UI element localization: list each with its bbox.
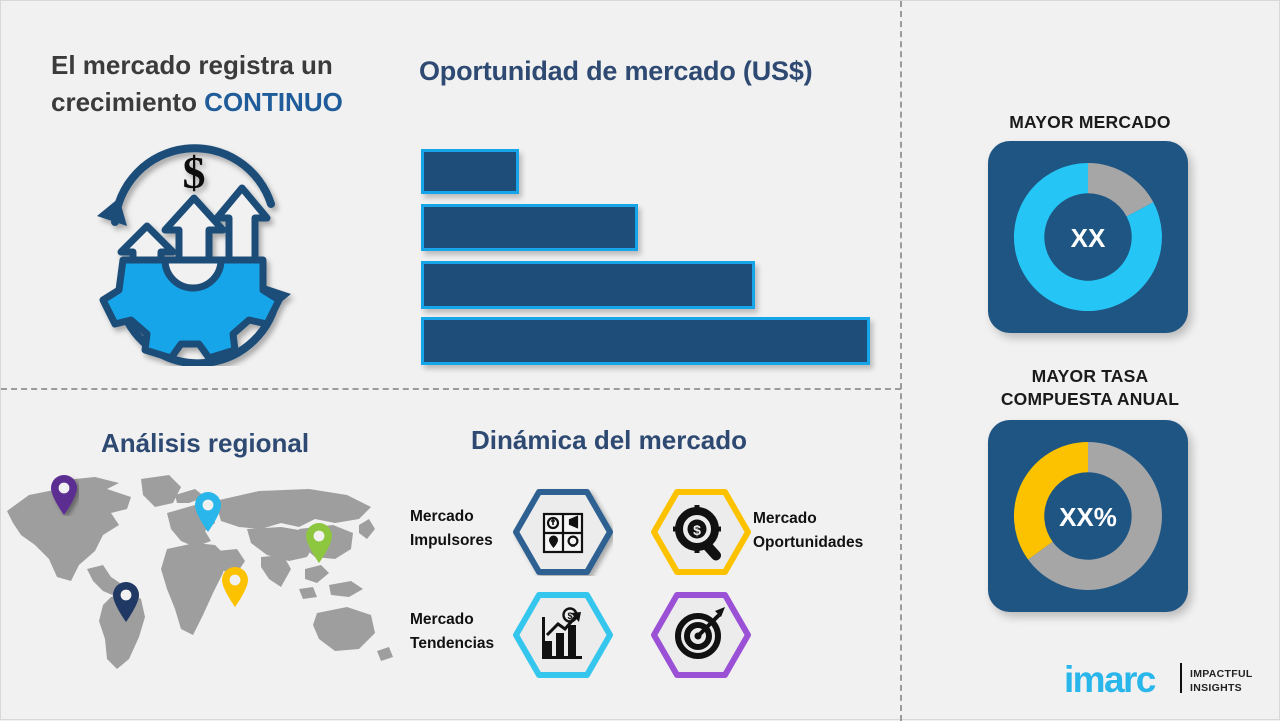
opportunity-bar-chart (421, 149, 876, 354)
kpi-center-value-mayor-mercado: XX (988, 223, 1188, 254)
kpi2-title-line1: MAYOR TASA (1032, 366, 1149, 386)
growth-cycle-gear-icon: $ (81, 144, 306, 366)
dyn-0-line2: Impulsores (410, 532, 493, 549)
headline-line-2-plain: crecimiento (51, 87, 204, 117)
map-pin-europe (193, 491, 223, 533)
bar-1 (421, 149, 519, 194)
map-pin-asia (304, 522, 334, 564)
dynamics-hex-impulsores[interactable] (513, 488, 613, 576)
bar-2 (421, 204, 638, 251)
opportunity-section-title: Oportunidad de mercado (US$) (419, 56, 812, 87)
bar-4 (421, 317, 870, 365)
imarc-logo: imarc IMPACTFUL INSIGHTS (1064, 661, 1260, 705)
dynamics-label-impulsores: Mercado Impulsores (410, 505, 493, 553)
map-pin-north-america (49, 474, 79, 516)
logo-wordmark: imarc (1064, 661, 1155, 698)
headline-accent-word: CONTINUO (204, 87, 343, 117)
logo-tagline-line2: INSIGHTS (1190, 682, 1242, 694)
svg-text:$: $ (183, 147, 206, 198)
svg-text:$: $ (567, 611, 572, 621)
dyn-2-line1: Mercado (410, 611, 474, 628)
vertical-divider (900, 1, 902, 721)
page-title: El mercado registra un crecimiento CONTI… (51, 47, 411, 121)
dyn-1-line1: Mercado (753, 510, 817, 527)
dyn-1-line2: Oportunidades (753, 534, 863, 551)
kpi-title-mayor-mercado: MAYOR MERCADO (975, 111, 1205, 134)
dyn-2-line2: Tendencias (410, 635, 494, 652)
kpi-center-value-mayor-tasa: XX% (988, 502, 1188, 533)
headline-line-1: El mercado registra un (51, 50, 333, 80)
logo-divider (1180, 663, 1182, 693)
map-pin-south-america (111, 581, 141, 623)
horizontal-divider (1, 388, 901, 390)
puzzle-pieces-icon (544, 514, 582, 552)
svg-text:$: $ (693, 522, 701, 538)
kpi-title-mayor-tasa: MAYOR TASA COMPUESTA ANUAL (975, 365, 1205, 412)
logo-tagline-line1: IMPACTFUL (1190, 668, 1253, 680)
dynamics-section-title: Dinámica del mercado (471, 425, 747, 456)
kpi2-title-line2: COMPUESTA ANUAL (1001, 389, 1179, 409)
regional-section-title: Análisis regional (101, 428, 309, 459)
dynamics-label-tendencias: Mercado Tendencias (410, 608, 494, 656)
infographic-canvas: El mercado registra un crecimiento CONTI… (0, 0, 1280, 720)
bar-3 (421, 261, 755, 309)
map-pin-middle-east-africa (220, 566, 250, 608)
logo-tagline: IMPACTFUL INSIGHTS (1190, 667, 1253, 695)
dyn-0-line1: Mercado (410, 508, 474, 525)
dynamics-hex-retos[interactable] (651, 591, 751, 679)
dynamics-hex-tendencias[interactable]: $ (513, 591, 613, 679)
dynamics-hex-oportunidades[interactable]: $ (651, 488, 751, 576)
dynamics-label-oportunidades: Mercado Oportunidades (753, 507, 863, 555)
